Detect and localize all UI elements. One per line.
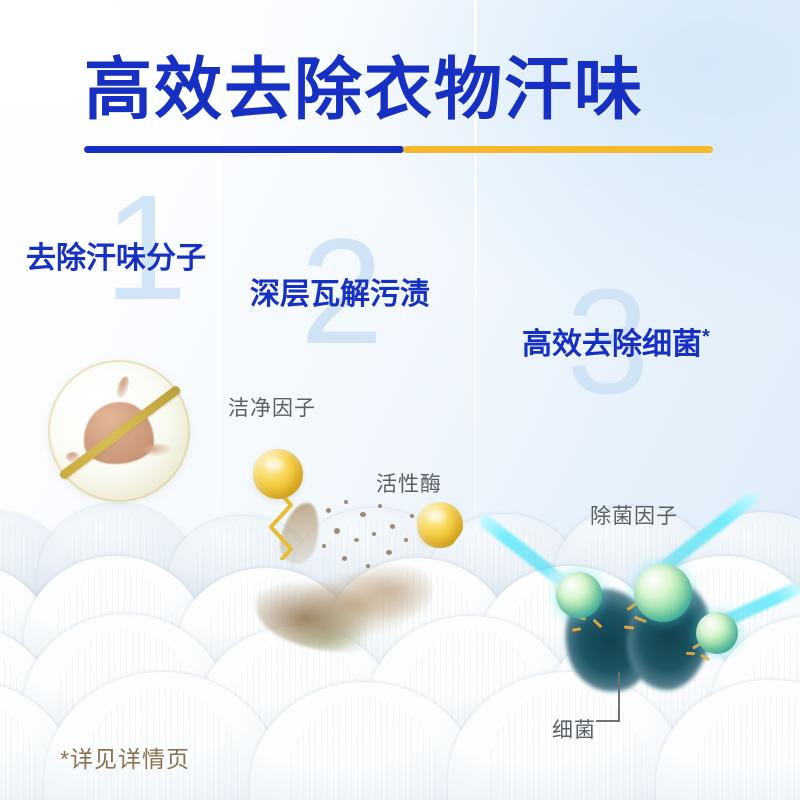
step-2-sublabel-active-enzyme: 活性酶 xyxy=(376,468,442,498)
step-2-label: 深层瓦解污渍 xyxy=(250,269,430,313)
product-feature-poster: 高效去除衣物汗味 1 去除汗味分子 2 深层瓦解污渍 洁净因子 活性酶 xyxy=(0,0,800,800)
odor-molecule-tail xyxy=(144,444,170,456)
strike-through-bar xyxy=(58,384,182,480)
odor-bubble-graphic xyxy=(48,360,190,502)
cleaning-factor-disc xyxy=(253,449,303,499)
step-2-sublabel-cleaning-factor: 洁净因子 xyxy=(228,392,316,422)
title-underline-blue xyxy=(84,146,404,153)
odor-particle xyxy=(115,375,131,399)
step-3-sublabel-antibacterial-factor: 除菌因子 xyxy=(590,500,678,530)
antibacterial-orb xyxy=(634,564,692,622)
step-3-label-text: 高效去除细菌 xyxy=(522,328,702,361)
step-3-asterisk: * xyxy=(702,326,710,348)
dirt-particles xyxy=(320,498,440,588)
page-title: 高效去除衣物汗味 xyxy=(84,56,644,124)
bacteria-callout-label: 细菌 xyxy=(552,714,596,744)
antibacterial-orb xyxy=(696,612,738,654)
enzyme-chain-graphic xyxy=(268,494,294,560)
footnote-disclaimer: *详见详情页 xyxy=(60,740,190,774)
antibacterial-orb xyxy=(556,572,602,618)
step-1-label: 去除汗味分子 xyxy=(26,233,206,277)
title-underline-gold xyxy=(403,146,713,153)
step-3-label: 高效去除细菌* xyxy=(522,319,710,363)
